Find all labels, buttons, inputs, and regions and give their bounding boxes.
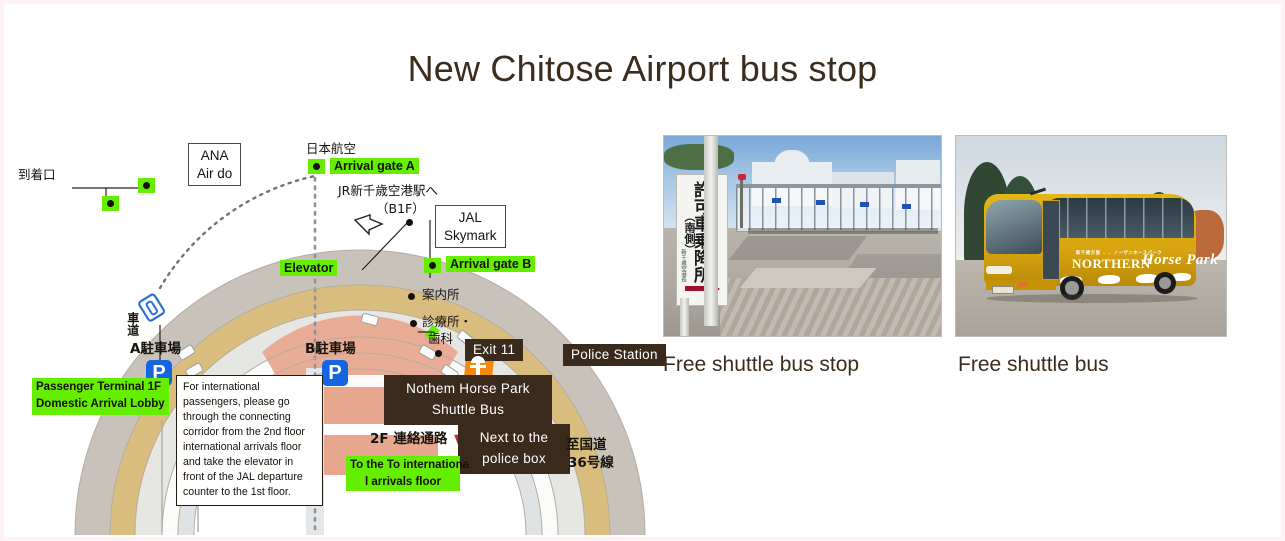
photo1-fence-base xyxy=(748,228,938,234)
police-station-dot xyxy=(435,350,442,357)
jr-station-floor-jp: （B1F） xyxy=(376,202,425,216)
photo1-fence-sign-2 xyxy=(816,200,825,205)
photo2-window-mullions xyxy=(1048,198,1194,238)
next-police-line-1: Next to the xyxy=(468,428,560,449)
jal-label: JAL xyxy=(444,209,497,227)
terminal-line-1: Passenger Terminal 1F xyxy=(36,379,165,396)
arrival-gate-a-marker xyxy=(308,159,325,174)
photo1-walkway-posts xyxy=(736,186,942,230)
photo2-horse-2 xyxy=(1098,275,1120,284)
airport-map: ANA Air do 到着口 日本航空 Arrival gate A JR新千歳… xyxy=(10,120,660,535)
next-to-police-box-label: Next to the police box xyxy=(458,424,570,474)
clinic-label-jp-1: 診療所・ xyxy=(422,315,472,329)
parking-a-label-jp: A駐車場 xyxy=(130,342,181,358)
shuttle-bus-label: Nothem Horse Park Shuttle Bus xyxy=(384,375,552,425)
photo2-indicator xyxy=(1018,282,1028,287)
to-intl-line-1: To the To internationa xyxy=(350,457,456,474)
photo1-tree xyxy=(664,144,734,170)
photo2-wheel-rear xyxy=(1154,272,1176,294)
shuttle-line-2: Shuttle Bus xyxy=(394,400,542,421)
international-passenger-info-box: For international passengers, please go … xyxy=(176,375,323,506)
page-title-text: New Chitose Airport bus stop xyxy=(408,48,878,90)
elevator-label: Elevator xyxy=(280,260,337,276)
next-police-line-2: police box xyxy=(468,449,560,470)
arrival-exit-label-jp: 到着口 xyxy=(18,168,56,182)
photo2-windshield xyxy=(986,200,1042,254)
skymark-label: Skymark xyxy=(444,227,497,245)
corridor-2f-label-jp: 2F 連絡通路 xyxy=(370,432,447,448)
photo1-pole xyxy=(704,136,718,326)
police-station-label: Police Station xyxy=(563,344,666,366)
photo1-stop-sign-pole xyxy=(740,180,743,228)
roadway-label-jp: 車道 xyxy=(125,312,139,336)
passenger-terminal-label: Passenger Terminal 1F Domestic Arrival L… xyxy=(32,378,169,415)
photo1-shadow-1 xyxy=(729,236,868,260)
arrival-gate-a-label: Arrival gate A xyxy=(330,158,419,174)
to-international-arrivals-label: To the To internationa l arrivals floor xyxy=(346,456,460,491)
shuttle-line-1: Nothem Horse Park xyxy=(394,379,542,400)
photo1-curb xyxy=(740,268,877,288)
photo1-fence-sign-3 xyxy=(860,202,869,207)
clinic-dot xyxy=(410,320,417,327)
page-root: New Chitose Airport bus stop xyxy=(0,0,1285,541)
route-36-label-jp-1: 至国道 xyxy=(566,438,607,454)
page-title: New Chitose Airport bus stop xyxy=(0,48,1285,90)
photo-free-shuttle-bus-stop: 許可車乗降所 （南側） 新千歳空港長 xyxy=(663,135,942,337)
photo1-walkway-roof xyxy=(736,184,942,188)
photo1-sign-text-small: 新千歳空港長 xyxy=(679,249,687,282)
photo2-headlight xyxy=(986,266,1012,274)
arrival-gate-b-marker xyxy=(424,258,441,273)
elevator-dot xyxy=(406,219,413,226)
terminal-line-2: Domestic Arrival Lobby xyxy=(36,396,165,413)
photo2-bus-shadow xyxy=(986,294,1198,303)
photo2-bus-text-script: Horse Park xyxy=(1142,252,1218,269)
information-label-jp: 案内所 xyxy=(422,288,460,302)
photo1-sign-leg xyxy=(680,298,689,336)
photo1-fence-sign-4 xyxy=(902,204,911,209)
route-36-label-jp-2: 36号線 xyxy=(568,456,614,472)
photo1-fence-sign-1 xyxy=(772,198,781,203)
arrival-exit-marker-1 xyxy=(138,178,155,193)
parking-b-label-jp: B駐車場 xyxy=(305,342,356,358)
parking-b-icon: P xyxy=(322,360,348,386)
photo2-license-plate xyxy=(992,286,1014,294)
photo1-permit-sign: 許可車乗降所 （南側） 新千歳空港長 xyxy=(676,174,728,306)
arrival-gate-b-label: Arrival gate B xyxy=(446,256,535,272)
ana-airdo-box: ANA Air do xyxy=(188,143,241,186)
photo2-door xyxy=(1042,200,1060,280)
jr-station-label-jp: JR新千歳空港駅へ xyxy=(338,184,438,198)
photo2-bus-text-main: NORTHERN xyxy=(1072,256,1151,272)
jal-airline-label-jp: 日本航空 xyxy=(306,142,356,156)
to-intl-line-2: l arrivals floor xyxy=(350,474,456,491)
ana-label: ANA xyxy=(197,147,232,165)
jal-skymark-box: JAL Skymark xyxy=(435,205,506,248)
photo2-caption: Free shuttle bus xyxy=(958,353,1109,377)
information-dot xyxy=(408,293,415,300)
photo-free-shuttle-bus: 新千歳方面 ←→ ノーザンホースパーク NORTHERN Horse Park xyxy=(955,135,1227,337)
arrival-exit-marker-2 xyxy=(102,196,119,211)
clinic-label-jp-2: 歯科 xyxy=(428,332,453,346)
airdo-label: Air do xyxy=(197,165,232,183)
photo1-caption: Free shuttle bus stop xyxy=(663,353,859,377)
